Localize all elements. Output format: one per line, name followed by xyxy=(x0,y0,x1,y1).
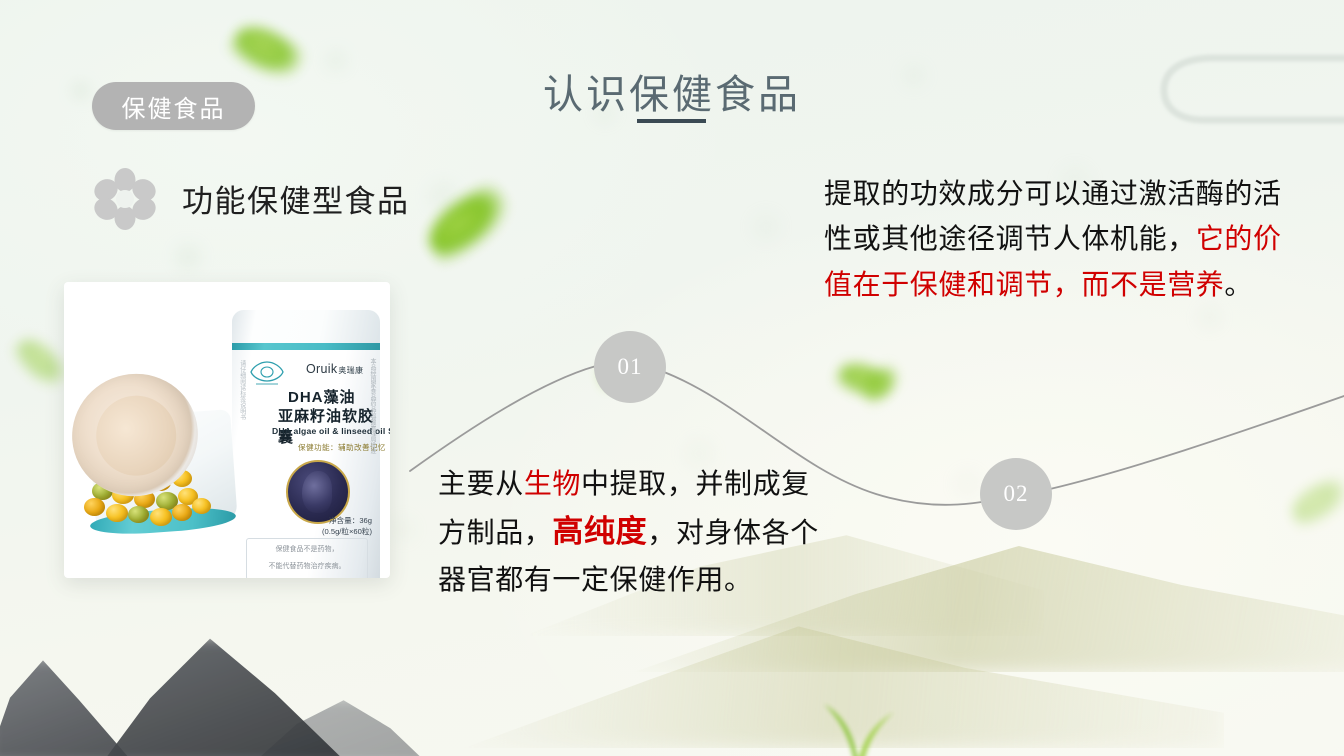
description-left-seg1: 主要从 xyxy=(438,469,524,500)
bottle-side-note: 本品经国家食品药品监督管理局批准 xyxy=(366,358,377,454)
product-name-line1: DHA藻油 xyxy=(288,386,356,407)
description-left-highlight-1: 生物 xyxy=(524,469,581,500)
bottle-cap xyxy=(232,310,380,346)
net-weight: 净含量：36g (0.5g/粒×60粒) xyxy=(322,516,372,537)
flower-icon xyxy=(94,168,156,230)
title-underline xyxy=(637,119,706,123)
brand-name-en: Oruik xyxy=(306,362,337,376)
bottle-teal-ring xyxy=(232,343,380,350)
description-left: 主要从生物中提取，并制成复方制品，高纯度，对身体各个器官都有一定保健作用。 xyxy=(438,462,838,603)
product-image: Oruik奥瑞康 DHA藻油 亚麻籽油软胶囊 DHA algae oil & l… xyxy=(64,282,390,578)
grass-blade-icon xyxy=(796,690,916,756)
page-title: 认识保健食品 xyxy=(0,62,1344,120)
step-node-01-label: 01 xyxy=(618,354,643,380)
section-subtitle: 功能保健型食品 xyxy=(182,176,410,221)
step-node-01[interactable]: 01 xyxy=(594,331,666,403)
step-node-02[interactable]: 02 xyxy=(980,458,1052,530)
net-weight-line2: (0.5g/粒×60粒) xyxy=(322,527,372,538)
warning-line2: 不能代替药物治疗疾病。 xyxy=(247,562,367,573)
step-node-02-label: 02 xyxy=(1004,481,1029,507)
description-left-highlight-2: 高纯度 xyxy=(552,514,647,549)
net-weight-line1: 净含量：36g xyxy=(322,516,372,527)
description-right: 提取的功效成分可以通过激活酶的活性或其他途径调节人体机能，它的价值在于保健和调节… xyxy=(824,172,1284,308)
brain-medallion-icon xyxy=(286,460,350,524)
bottle-side-note-2: 请仔细阅读标签说明书 xyxy=(236,360,247,420)
warning-line1: 保健食品不是药物， xyxy=(247,545,367,556)
slide-canvas: 保健食品 认识保健食品 功能保健型食品 xyxy=(0,0,1344,756)
brand-name: Oruik奥瑞康 xyxy=(306,362,363,376)
brand-name-cn: 奥瑞康 xyxy=(338,366,363,375)
description-right-seg3: 。 xyxy=(1224,270,1253,301)
brand-logo-icon xyxy=(250,360,284,386)
warning-box: 保健食品不是药物， 不能代替药物治疗疾病。 xyxy=(246,538,368,578)
product-bottle: Oruik奥瑞康 DHA藻油 亚麻籽油软胶囊 DHA algae oil & l… xyxy=(232,310,380,578)
